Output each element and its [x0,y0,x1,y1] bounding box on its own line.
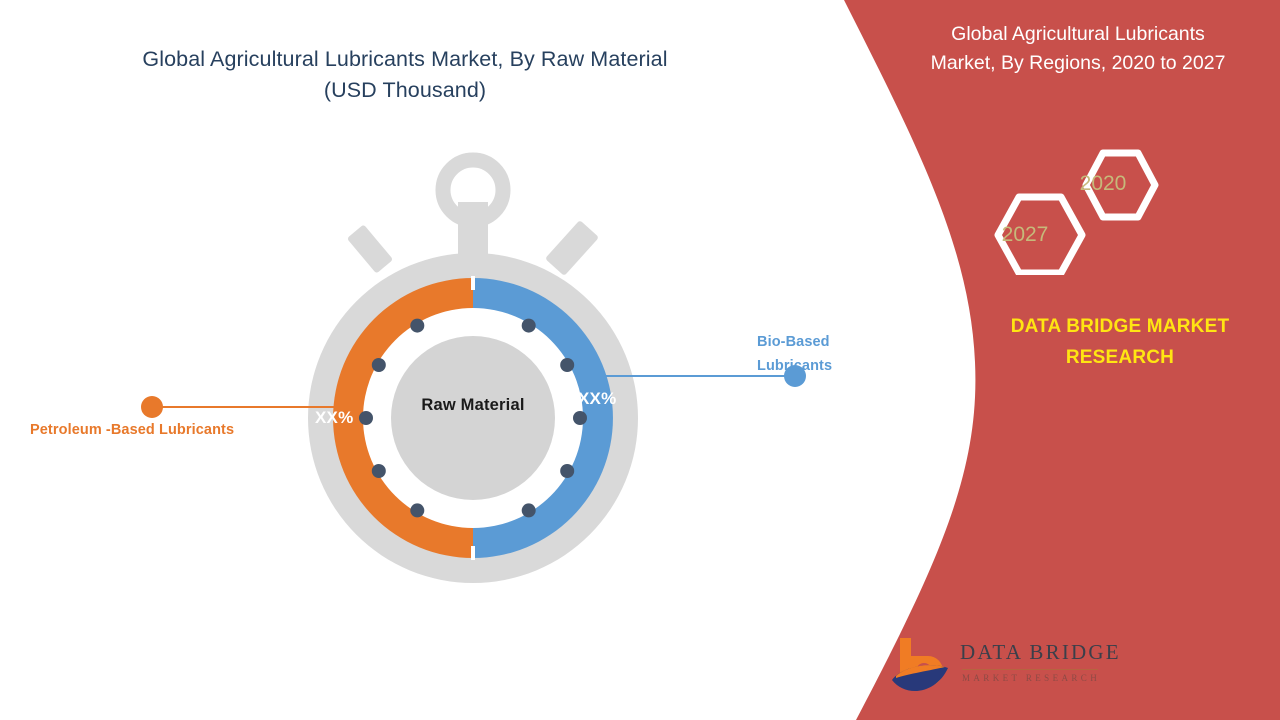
hexagon-outlines [985,145,1185,275]
brand-panel-title: Global Agricultural Lubricants Market, B… [888,20,1268,78]
logo-mark-icon [888,632,958,702]
petroleum-leader-line [158,406,348,408]
brand-name-line2: RESEARCH [1066,347,1174,368]
page-title: Global Agricultural Lubricants Market, B… [60,44,750,106]
year-hexagon-badges: 2020 2027 [985,145,1185,275]
legend-item-bio: Bio-Based Lubricants [757,330,867,378]
petroleum-percent-label: XX% [315,408,353,428]
donut-gap-bottom [471,546,475,560]
chart-title-line1: Global Agricultural Lubricants Market, B… [142,47,667,71]
hexagon-2020-label: 2020 [1063,172,1143,196]
logo-tagline: MARKET RESEARCH [962,673,1100,683]
chart-title-line2: (USD Thousand) [324,78,486,102]
legend-item-bio-line2: Lubricants [757,354,867,378]
brand-name-line1: DATA BRIDGE MARKET [1011,316,1230,337]
brand-name: DATA BRIDGE MARKET RESEARCH [975,311,1265,373]
petroleum-leader-dot [141,396,163,418]
legend-item-petroleum: Petroleum -Based Lubricants [30,420,280,440]
donut-gap-top [471,276,475,290]
dial-center-hub [391,336,555,500]
company-logo: DATA BRIDGE MARKET RESEARCH [888,628,1100,706]
hexagon-2027-label: 2027 [985,223,1065,247]
logo-wordmark: DATA BRIDGE [960,640,1121,665]
donut-center-label: Raw Material [377,396,569,415]
bio-percent-label: XX% [578,389,616,409]
stopwatch-side-button [545,220,599,276]
brand-panel-title-line1: Global Agricultural Lubricants [951,23,1205,45]
infographic-canvas: Global Agricultural Lubricants Market, B… [0,0,1280,720]
brand-panel-title-line2: Market, By Regions, 2020 to 2027 [931,52,1226,74]
stopwatch-left-nub [347,224,393,273]
legend-item-bio-line1: Bio-Based [757,330,867,354]
logo-divider [962,669,1098,670]
chart-panel: Global Agricultural Lubricants Market, B… [0,0,870,720]
